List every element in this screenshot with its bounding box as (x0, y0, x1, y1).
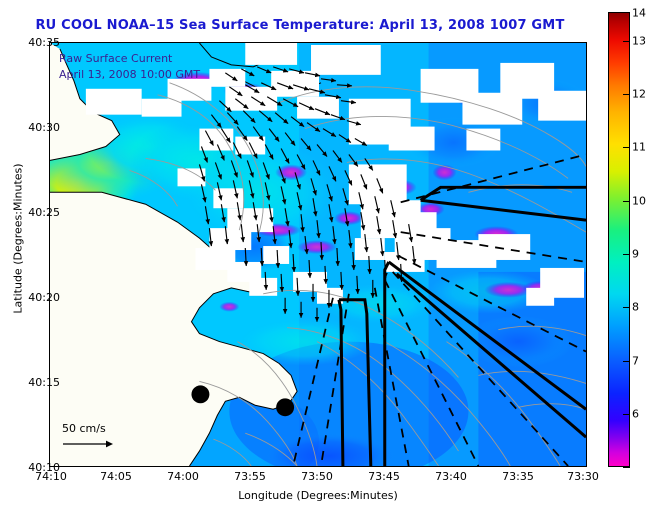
sst-figure: RU COOL NOAA–15 Sea Surface Temperature:… (0, 0, 651, 519)
colorbar-tick-label: 14 (632, 7, 646, 20)
ytick-label: 40:20 (28, 291, 60, 304)
x-axis-label: Longitude (Degrees:Minutes) (49, 489, 587, 502)
sst-map-canvas (50, 43, 586, 466)
colorbar-tickmark (623, 361, 630, 362)
temperature-colorbar (608, 12, 630, 467)
vector-scale-key: 50 cm/s (62, 422, 114, 452)
xtick-label: 73:50 (301, 470, 333, 483)
colorbar-tick-label: 6 (632, 408, 639, 421)
ytick-label: 40:35 (28, 36, 60, 49)
colorbar-tickmark (623, 201, 630, 202)
colorbar-tickmark (623, 147, 630, 148)
ytick-label: 40:30 (28, 121, 60, 134)
xtick-label: 74:10 (35, 470, 67, 483)
map-plot-area[interactable]: Raw Surface Current April 13, 2008 10:00… (49, 42, 587, 467)
vector-scale-label: 50 cm/s (62, 422, 114, 435)
xtick-label: 73:30 (567, 470, 599, 483)
colorbar-tickmark (623, 254, 630, 255)
colorbar-tick-label: 8 (632, 301, 639, 314)
colorbar-tick-label: 13 (632, 35, 646, 48)
colorbar-tickmark (623, 94, 630, 95)
colorbar-tickmark (623, 467, 630, 468)
colorbar-tick-label: 9 (632, 248, 639, 261)
xtick-label: 74:05 (100, 470, 132, 483)
colorbar-tick-label: 11 (632, 141, 646, 154)
xtick-label: 73:55 (234, 470, 266, 483)
xtick-label: 73:40 (435, 470, 467, 483)
y-axis-label: Latitude (Degrees:Minutes) (12, 159, 25, 319)
xtick-label: 73:45 (368, 470, 400, 483)
colorbar-tick-label: 10 (632, 195, 646, 208)
ytick-label: 40:25 (28, 206, 60, 219)
colorbar-tickmark (623, 414, 630, 415)
colorbar-tick-label: 7 (632, 355, 639, 368)
xtick-label: 73:35 (502, 470, 534, 483)
xtick-label: 74:00 (167, 470, 199, 483)
ytick-label: 40:15 (28, 376, 60, 389)
colorbar-tickmark (623, 307, 630, 308)
colorbar-tickmark (623, 41, 630, 42)
right-arrow-icon (62, 439, 114, 452)
colorbar-tick-label: 12 (632, 88, 646, 101)
figure-title: RU COOL NOAA–15 Sea Surface Temperature:… (0, 18, 600, 33)
